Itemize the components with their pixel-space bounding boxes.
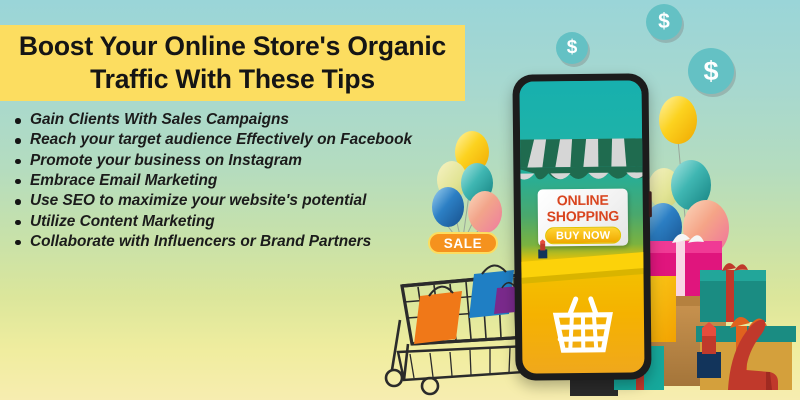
list-item: Promote your business on Instagram (30, 151, 430, 170)
list-item: Reach your target audience Effectively o… (30, 130, 430, 149)
dollar-coin-icon: $ (556, 32, 588, 64)
tips-list: Gain Clients With Sales Campaigns Reach … (8, 110, 430, 252)
online-shopping-sign: ONLINE SHOPPING BUY NOW (538, 189, 629, 247)
dollar-coin-icon: $ (688, 48, 734, 94)
cart-bags (414, 265, 514, 344)
list-item: Embrace Email Marketing (30, 171, 430, 190)
lipstick-icon (697, 322, 721, 378)
title-banner: Boost Your Online Store's Organic Traffi… (0, 25, 465, 101)
buy-now-button[interactable]: BUY NOW (545, 227, 622, 245)
page-title: Boost Your Online Store's Organic Traffi… (19, 30, 446, 96)
list-item: Use SEO to maximize your website's poten… (30, 191, 430, 210)
counter-lipstick-icon (537, 239, 548, 258)
gift-box-stack-right (636, 234, 796, 390)
store-awning-icon (519, 136, 644, 183)
sign-line-2: SHOPPING (547, 208, 619, 223)
phone-side-button (649, 191, 652, 217)
shopping-basket-icon (550, 294, 617, 357)
dollar-coin-icon: $ (646, 4, 682, 40)
phone-screen: ONLINE SHOPPING BUY NOW (519, 80, 644, 373)
list-item: Collaborate with Influencers or Brand Pa… (30, 232, 430, 251)
balloon-cluster-left (432, 131, 502, 245)
list-item: Gain Clients With Sales Campaigns (30, 110, 430, 129)
title-line-2: Traffic With These Tips (90, 64, 375, 94)
sale-tag: SALE (428, 232, 498, 254)
title-line-1: Boost Your Online Store's Organic (19, 31, 446, 61)
list-item: Utilize Content Marketing (30, 212, 430, 231)
promotional-banner: $ $ $ SALE ONLINE SHOPP (0, 0, 800, 400)
smartphone-mockup: ONLINE SHOPPING BUY NOW (512, 73, 651, 380)
balloon-cluster-right (644, 96, 729, 272)
high-heel-shoe-icon (728, 320, 778, 390)
sign-line-1: ONLINE (557, 193, 609, 208)
